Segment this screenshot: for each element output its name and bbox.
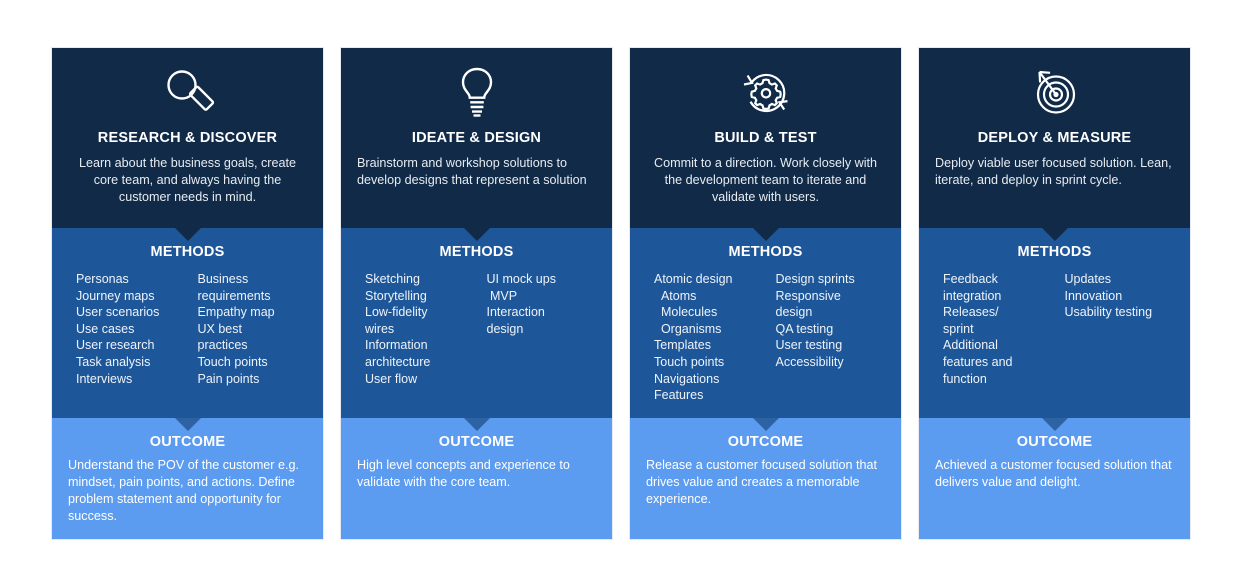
phase-title: RESEARCH & DISCOVER [68, 130, 307, 146]
methods-notch-icon [464, 418, 490, 431]
method-item: Task analysis [76, 354, 188, 371]
phase-header: IDEATE & DESIGN Brainstorm and workshop … [341, 48, 612, 228]
method-item: UI mock ups [487, 271, 599, 288]
method-item: Interaction [487, 304, 599, 321]
method-item: design [487, 321, 599, 338]
phase-notch-icon [753, 228, 779, 241]
method-item: Interviews [76, 371, 188, 388]
method-item: Innovation [1065, 288, 1177, 305]
method-item: Features [654, 387, 766, 404]
method-item: Empathy map [198, 304, 310, 321]
method-item: Journey maps [76, 288, 188, 305]
method-item: sprint [943, 321, 1055, 338]
method-item: User scenarios [76, 304, 188, 321]
phase-description: Brainstorm and workshop solutions to dev… [357, 155, 596, 189]
outcome-section: OUTCOME Achieved a customer focused solu… [919, 418, 1190, 539]
phase-title: DEPLOY & MEASURE [935, 130, 1174, 146]
methods-columns: Atomic design Atoms Molecules Organisms … [644, 271, 887, 404]
methods-section: METHODS Sketching Storytelling Low-fidel… [341, 228, 612, 418]
outcome-section: OUTCOME Understand the POV of the custom… [52, 418, 323, 539]
method-item: Atomic design [654, 271, 766, 288]
method-item: wires [365, 321, 477, 338]
phase-title: IDEATE & DESIGN [357, 130, 596, 146]
method-item: Atoms [654, 288, 766, 305]
process-phases-board: RESEARCH & DISCOVER Learn about the busi… [0, 0, 1250, 583]
methods-columns: Personas Journey maps User scenarios Use… [66, 271, 309, 387]
outcome-section: OUTCOME High level concepts and experien… [341, 418, 612, 539]
outcome-section: OUTCOME Release a customer focused solut… [630, 418, 901, 539]
methods-heading: METHODS [933, 244, 1176, 260]
methods-column-right: UI mock ups MVP Interaction design [487, 271, 599, 387]
method-item: Additional [943, 337, 1055, 354]
method-item: Personas [76, 271, 188, 288]
outcome-description: High level concepts and experience to va… [357, 457, 596, 491]
phase-notch-icon [1042, 228, 1068, 241]
methods-section: METHODS Atomic design Atoms Molecules Or… [630, 228, 901, 418]
method-item: Organisms [654, 321, 766, 338]
method-item: Low-fidelity [365, 304, 477, 321]
method-item: requirements [198, 288, 310, 305]
method-item: Feedback [943, 271, 1055, 288]
method-item: integration [943, 288, 1055, 305]
outcome-heading: OUTCOME [935, 434, 1174, 450]
phase-header: BUILD & TEST Commit to a direction. Work… [630, 48, 901, 228]
method-item: UX best [198, 321, 310, 338]
phase-notch-icon [464, 228, 490, 241]
method-item: Touch points [198, 354, 310, 371]
method-item: Information [365, 337, 477, 354]
methods-notch-icon [175, 418, 201, 431]
magnifier-icon [68, 62, 307, 124]
method-item: Molecules [654, 304, 766, 321]
method-item: function [943, 371, 1055, 388]
method-item: Pain points [198, 371, 310, 388]
methods-columns: Sketching Storytelling Low-fidelity wire… [355, 271, 598, 387]
methods-heading: METHODS [644, 244, 887, 260]
phase-notch-icon [175, 228, 201, 241]
method-item: Usability testing [1065, 304, 1177, 321]
outcome-description: Understand the POV of the customer e.g. … [68, 457, 307, 525]
method-item: Updates [1065, 271, 1177, 288]
method-item: Accessibility [776, 354, 888, 371]
method-item: features and [943, 354, 1055, 371]
method-item: Sketching [365, 271, 477, 288]
phase-header: DEPLOY & MEASURE Deploy viable user focu… [919, 48, 1190, 228]
methods-column-left: Feedback integration Releases/ sprint Ad… [943, 271, 1055, 387]
method-item: practices [198, 337, 310, 354]
method-item: Templates [654, 337, 766, 354]
methods-column-left: Sketching Storytelling Low-fidelity wire… [365, 271, 477, 387]
method-item: User flow [365, 371, 477, 388]
method-item: User research [76, 337, 188, 354]
method-item: design [776, 304, 888, 321]
methods-notch-icon [753, 418, 779, 431]
outcome-description: Achieved a customer focused solution tha… [935, 457, 1174, 491]
outcome-heading: OUTCOME [357, 434, 596, 450]
method-item: Business [198, 271, 310, 288]
phase-description: Deploy viable user focused solution. Lea… [935, 155, 1174, 189]
method-item: Navigations [654, 371, 766, 388]
phase-card-build-test[interactable]: BUILD & TEST Commit to a direction. Work… [630, 48, 901, 539]
methods-column-right: Design sprints Responsive design QA test… [776, 271, 888, 404]
outcome-description: Release a customer focused solution that… [646, 457, 885, 508]
outcome-heading: OUTCOME [646, 434, 885, 450]
target-arrow-icon [935, 62, 1174, 124]
phase-card-deploy-measure[interactable]: DEPLOY & MEASURE Deploy viable user focu… [919, 48, 1190, 539]
method-item: Design sprints [776, 271, 888, 288]
methods-section: METHODS Personas Journey maps User scena… [52, 228, 323, 418]
methods-section: METHODS Feedback integration Releases/ s… [919, 228, 1190, 418]
method-item: Touch points [654, 354, 766, 371]
outcome-heading: OUTCOME [68, 434, 307, 450]
method-item: User testing [776, 337, 888, 354]
method-item: Responsive [776, 288, 888, 305]
gear-cycle-icon [646, 62, 885, 124]
phase-description: Learn about the business goals, create c… [68, 155, 307, 206]
methods-heading: METHODS [66, 244, 309, 260]
method-item: MVP [487, 288, 599, 305]
methods-notch-icon [1042, 418, 1068, 431]
methods-columns: Feedback integration Releases/ sprint Ad… [933, 271, 1176, 387]
method-item: Storytelling [365, 288, 477, 305]
method-item: QA testing [776, 321, 888, 338]
methods-column-left: Atomic design Atoms Molecules Organisms … [654, 271, 766, 404]
methods-column-right: Business requirements Empathy map UX bes… [198, 271, 310, 387]
phase-card-research-discover[interactable]: RESEARCH & DISCOVER Learn about the busi… [52, 48, 323, 539]
phase-title: BUILD & TEST [646, 130, 885, 146]
phase-description: Commit to a direction. Work closely with… [646, 155, 885, 206]
methods-column-right: Updates Innovation Usability testing [1065, 271, 1177, 387]
phase-header: RESEARCH & DISCOVER Learn about the busi… [52, 48, 323, 228]
method-item: architecture [365, 354, 477, 371]
lightbulb-icon [357, 62, 596, 124]
method-item: Releases/ [943, 304, 1055, 321]
methods-heading: METHODS [355, 244, 598, 260]
methods-column-left: Personas Journey maps User scenarios Use… [76, 271, 188, 387]
phase-card-ideate-design[interactable]: IDEATE & DESIGN Brainstorm and workshop … [341, 48, 612, 539]
method-item: Use cases [76, 321, 188, 338]
